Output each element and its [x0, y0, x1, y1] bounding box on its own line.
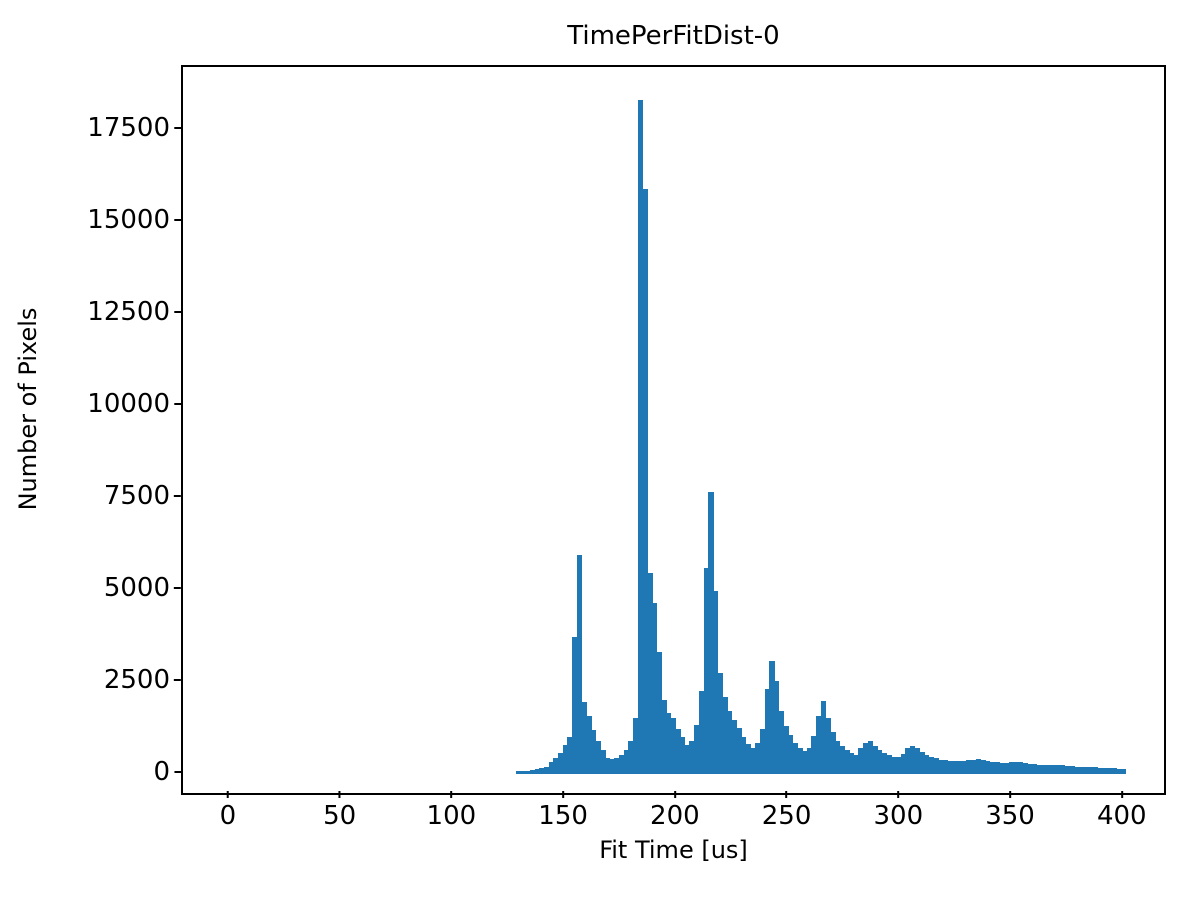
- y-tick-label: 0: [153, 757, 174, 787]
- x-axis-tick: 100: [427, 791, 477, 831]
- x-tick-mark: [450, 791, 452, 798]
- x-tick-mark: [227, 791, 229, 798]
- y-tick-mark: [174, 311, 181, 313]
- figure-canvas: TimePerFitDist-0 Number of Pixels Fit Ti…: [0, 0, 1200, 900]
- x-tick-label: 50: [323, 798, 356, 831]
- histogram-bar: [1121, 769, 1126, 774]
- x-axis-label: Fit Time [us]: [181, 836, 1166, 864]
- y-tick-label: 17500: [87, 113, 174, 143]
- y-axis-tick: 2500: [104, 665, 181, 695]
- y-tick-label: 7500: [104, 481, 174, 511]
- x-axis-tick: 300: [873, 791, 923, 831]
- y-tick-mark: [174, 403, 181, 405]
- y-tick-label: 15000: [87, 205, 174, 235]
- y-tick-mark: [174, 495, 181, 497]
- x-tick-label: 200: [650, 798, 700, 831]
- x-tick-label: 400: [1097, 798, 1147, 831]
- y-tick-mark: [174, 587, 181, 589]
- x-tick-label: 350: [985, 798, 1035, 831]
- x-tick-label: 250: [762, 798, 812, 831]
- x-tick-mark: [562, 791, 564, 798]
- x-tick-mark: [1121, 791, 1123, 798]
- y-tick-mark: [174, 679, 181, 681]
- x-axis-tick: 0: [220, 791, 237, 831]
- x-tick-label: 150: [538, 798, 588, 831]
- y-tick-mark: [174, 771, 181, 773]
- x-axis-tick: 50: [323, 791, 356, 831]
- y-axis-label: Number of Pixels: [14, 159, 42, 659]
- y-tick-label: 5000: [104, 573, 174, 603]
- x-axis-tick: 200: [650, 791, 700, 831]
- x-tick-mark: [786, 791, 788, 798]
- x-tick-mark: [674, 791, 676, 798]
- x-axis-tick: 150: [538, 791, 588, 831]
- y-axis-tick: 15000: [87, 205, 181, 235]
- x-axis-tick: 250: [762, 791, 812, 831]
- x-tick-mark: [339, 791, 341, 798]
- x-tick-label: 100: [427, 798, 477, 831]
- x-tick-mark: [897, 791, 899, 798]
- y-axis-tick: 17500: [87, 113, 181, 143]
- y-tick-mark: [174, 127, 181, 129]
- y-axis-tick: 12500: [87, 297, 181, 327]
- y-axis-tick: 0: [153, 757, 181, 787]
- x-tick-label: 0: [220, 798, 237, 831]
- y-tick-label: 2500: [104, 665, 174, 695]
- y-tick-label: 12500: [87, 297, 174, 327]
- y-axis-tick: 7500: [104, 481, 181, 511]
- x-axis-tick: 400: [1097, 791, 1147, 831]
- plot-area: [181, 65, 1166, 795]
- x-tick-label: 300: [873, 798, 923, 831]
- y-axis-tick: 5000: [104, 573, 181, 603]
- y-axis-tick: 10000: [87, 389, 181, 419]
- y-tick-mark: [174, 219, 181, 221]
- histogram-bars: [183, 67, 1164, 793]
- chart-title: TimePerFitDist-0: [181, 22, 1166, 51]
- y-tick-label: 10000: [87, 389, 174, 419]
- x-axis-tick: 350: [985, 791, 1035, 831]
- x-tick-mark: [1009, 791, 1011, 798]
